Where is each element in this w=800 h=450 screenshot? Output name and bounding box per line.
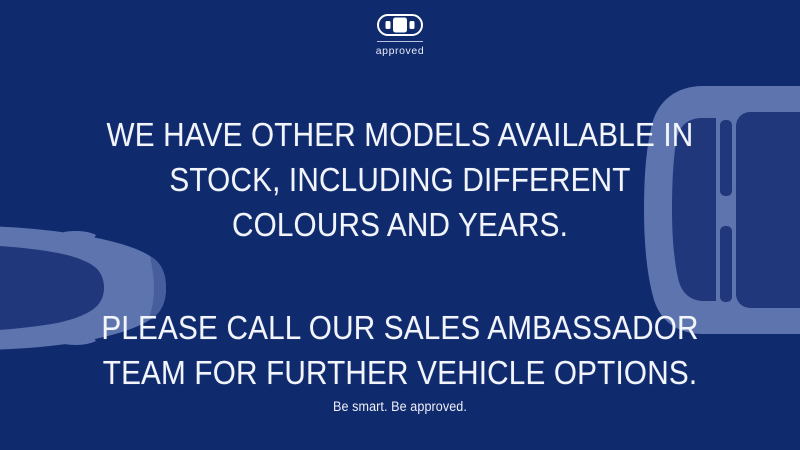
car-top-view-icon — [377, 14, 423, 36]
logo-divider — [377, 41, 423, 42]
logo-wordmark: approved — [376, 45, 425, 57]
brand-logo: approved — [0, 14, 800, 57]
brand-tagline: Be smart. Be approved. — [28, 399, 772, 414]
promotional-banner: approved We have other models available … — [0, 0, 800, 450]
message-body: We have other models available in stock,… — [0, 112, 800, 395]
headline-secondary: Please call our sales ambassador team fo… — [40, 305, 760, 395]
headline-primary: We have other models available in stock,… — [40, 112, 760, 247]
